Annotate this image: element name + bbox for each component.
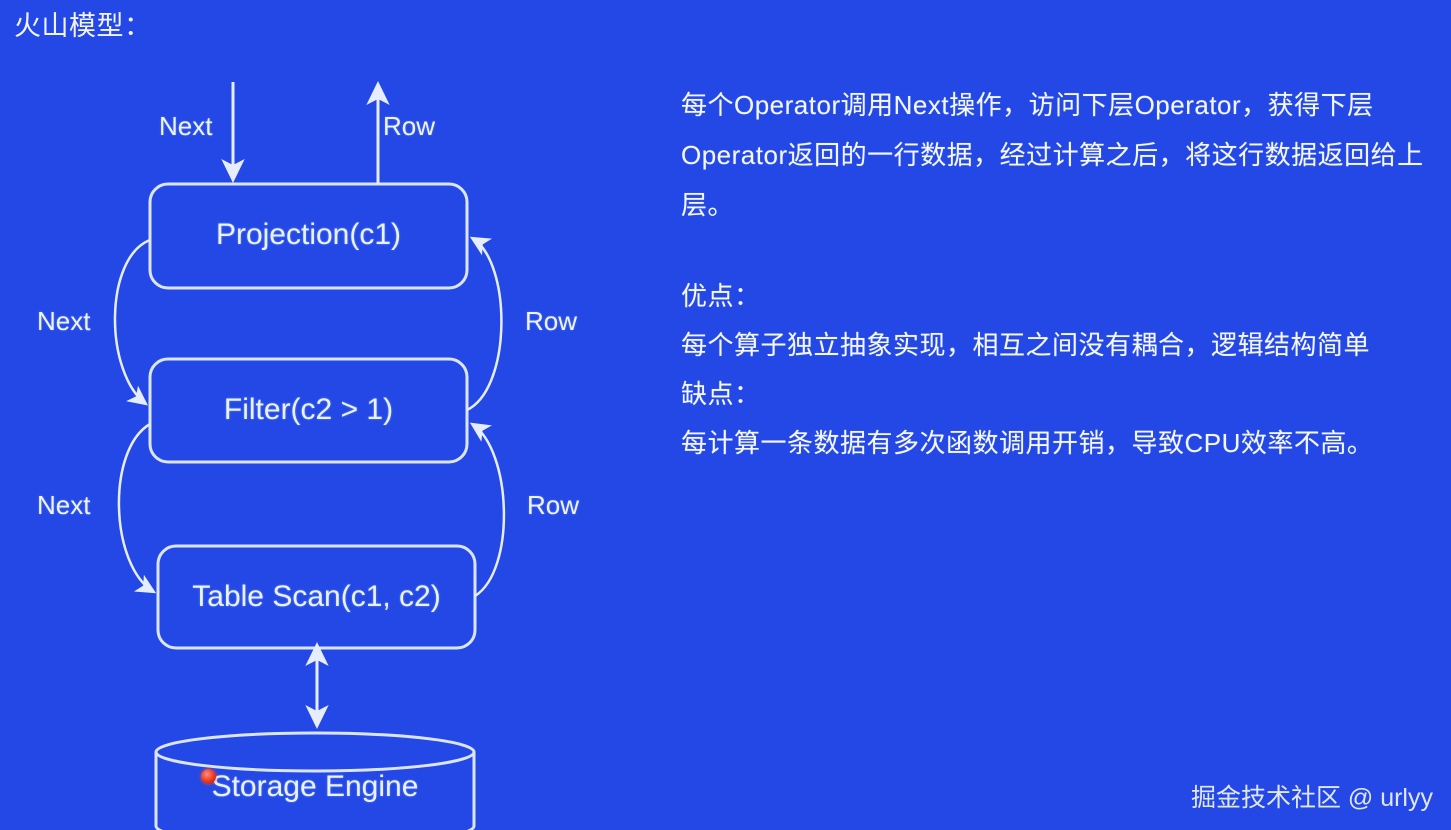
watermark: 掘金技术社区 @ urlyy xyxy=(1191,783,1433,813)
arrow-next-projection-to-filter xyxy=(115,240,150,404)
node-tablescan-label: Table Scan(c1, c2) xyxy=(158,582,475,612)
cursor-pointer-dot xyxy=(201,769,216,784)
cons-title: 缺点： xyxy=(681,370,1426,419)
pros-title: 优点： xyxy=(681,272,1426,321)
pros-text: 每个算子独立抽象实现，相互之间没有耦合，逻辑结构简单 xyxy=(681,321,1426,370)
node-filter-label: Filter(c2 > 1) xyxy=(150,395,467,425)
arrow-next-filter-to-tablescan xyxy=(119,424,154,592)
node-projection-label: Projection(c1) xyxy=(150,220,467,250)
arrow-row-tablescan-to-filter xyxy=(472,424,504,596)
description-paragraph: 每个Operator调用Next操作，访问下层Operator，获得下层Oper… xyxy=(681,80,1426,230)
edge-label-mid-row: Row xyxy=(525,308,577,334)
cons-text: 每计算一条数据有多次函数调用开销，导致CPU效率不高。 xyxy=(681,419,1426,468)
edge-label-top-next: Next xyxy=(159,113,212,139)
slide-canvas: 火山模型： xyxy=(0,0,1451,830)
edge-label-low-row: Row xyxy=(527,492,579,518)
edge-label-low-next: Next xyxy=(37,492,90,518)
arrow-row-filter-to-projection xyxy=(467,238,501,410)
pros-cons-block: 优点： 每个算子独立抽象实现，相互之间没有耦合，逻辑结构简单 缺点： 每计算一条… xyxy=(681,272,1426,468)
edge-label-top-row: Row xyxy=(383,113,435,139)
edge-label-mid-next: Next xyxy=(37,308,90,334)
description-block: 每个Operator调用Next操作，访问下层Operator，获得下层Oper… xyxy=(681,80,1426,230)
